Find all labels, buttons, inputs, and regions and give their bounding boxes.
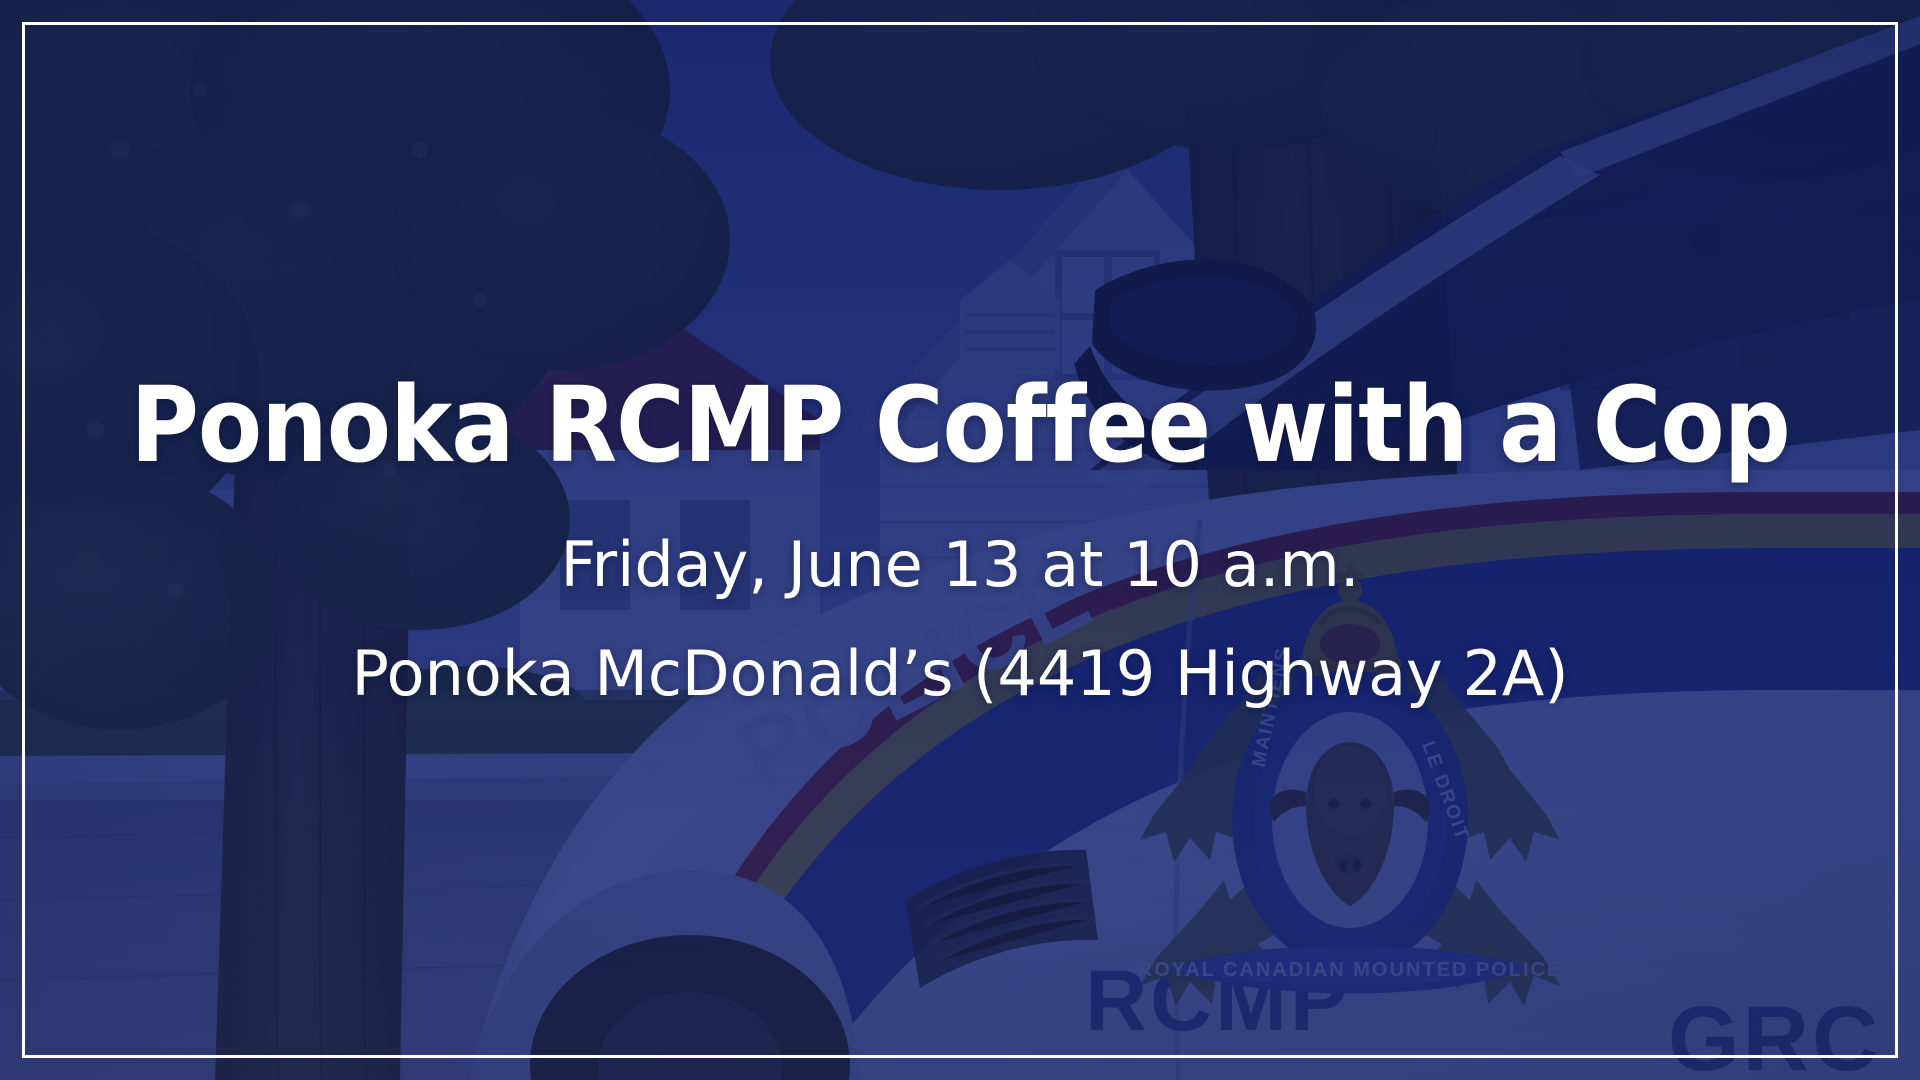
poster: POLICE RCMP GRC	[0, 0, 1920, 1080]
poster-headline: Ponoka RCMP Coffee with a Cop	[130, 372, 1789, 478]
poster-text-block: Ponoka RCMP Coffee with a Cop Friday, Ju…	[0, 0, 1920, 1080]
poster-date-line: Friday, June 13 at 10 a.m.	[560, 530, 1359, 599]
poster-location-line: Ponoka McDonald’s (4419 Highway 2A)	[351, 639, 1568, 708]
